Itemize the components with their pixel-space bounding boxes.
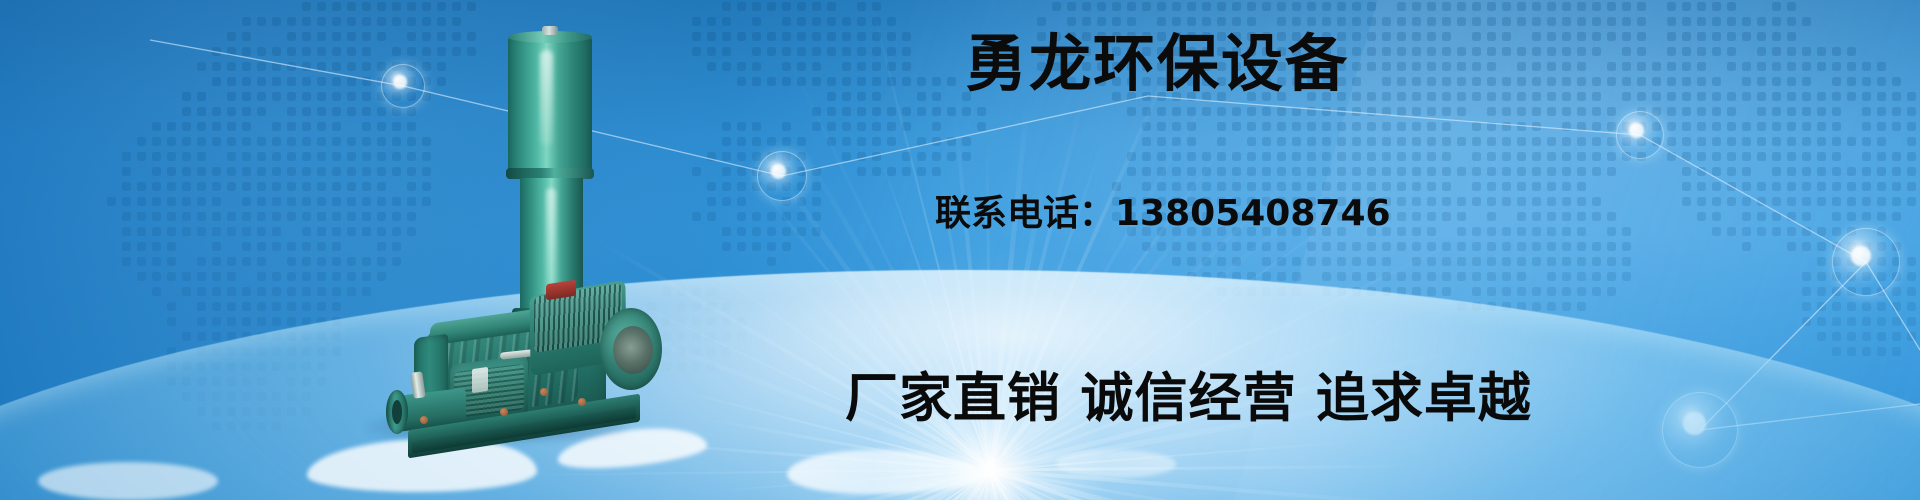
- contact-phone-line: 联系电话：13805408746: [935, 196, 1391, 232]
- globe-landmass: [1056, 450, 1176, 478]
- bolt-icon: [540, 388, 548, 396]
- promo-banner: 勇龙环保设备 联系电话：13805408746 厂家直销 诚信经营 追求卓越: [0, 0, 1920, 500]
- bolt-icon: [500, 408, 508, 416]
- roots-blower-product-image: [350, 20, 650, 450]
- motor-fan-cover: [600, 308, 662, 390]
- inlet-flange: [386, 390, 408, 434]
- silencer-fitting: [542, 26, 558, 35]
- network-node-icon: [757, 151, 807, 201]
- silencer-lower-highlight: [546, 188, 556, 296]
- network-node-icon: [1616, 111, 1664, 159]
- bolt-icon: [420, 416, 428, 424]
- network-node-icon: [1832, 228, 1900, 296]
- bolt-icon: [578, 398, 586, 406]
- nameplate: [472, 367, 488, 393]
- silencer-highlight: [540, 50, 553, 146]
- company-slogan: 厂家直销 诚信经营 追求卓越: [845, 372, 1532, 425]
- globe-landmass: [38, 462, 218, 500]
- company-title: 勇龙环保设备: [965, 33, 1349, 95]
